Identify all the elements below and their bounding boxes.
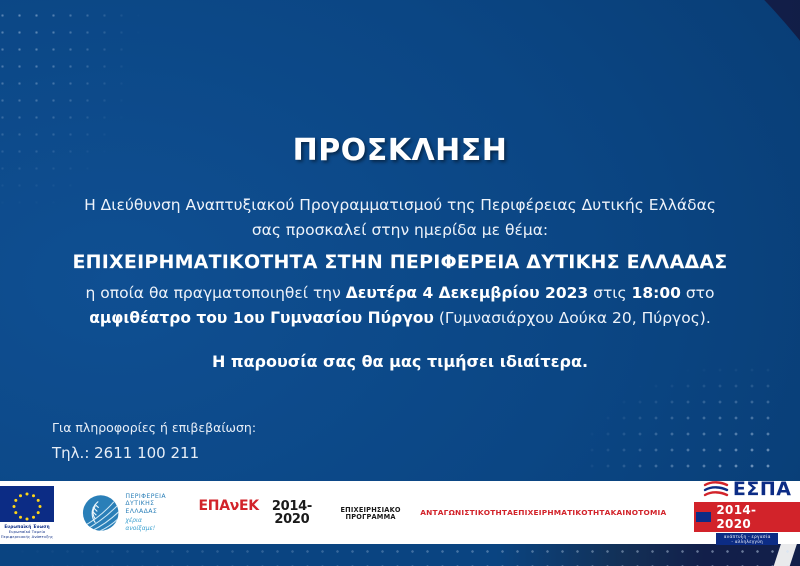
region-line2: ΔΥΤΙΚΗΣ <box>125 500 170 507</box>
epanek-title-row: ΕΠΑνΕΚ 2014-2020 <box>199 499 321 526</box>
espa-eu-flag-icon <box>696 512 711 522</box>
datetime-suffix: στο <box>681 284 715 302</box>
page-title: ΠΡΟΣΚΛΗΣΗ <box>0 133 800 168</box>
body-line-invite: σας προσκαλεί στην ημερίδα με θέμα: <box>40 218 760 243</box>
event-venue: αμφιθέατρο του 1ου Γυμνασίου Πύργου <box>89 309 434 327</box>
body-line-honor: Η παρουσία σας θα μας τιμήσει ιδιαίτερα. <box>40 349 760 375</box>
body-line-venue: αμφιθέατρο του 1ου Γυμνασίου Πύργου (Γυμ… <box>40 306 760 331</box>
contact-label: Για πληροφορίες ή επιβεβαίωση: <box>52 418 256 438</box>
event-address: (Γυμνασιάρχου Δούκα 20, Πύργος). <box>434 309 711 327</box>
body-line-organizer: Η Διεύθυνση Αναπτυξιακού Προγραμματισμού… <box>40 193 760 218</box>
body-line-datetime: η οποία θα πραγματοποιηθεί την Δευτέρα 4… <box>40 281 760 306</box>
event-subject: ΕΠΙΧΕΙΡΗΜΑΤΙΚΟΤΗΤΑ ΣΤΗΝ ΠΕΡΙΦΕΡΕΙΑ ΔΥΤΙΚ… <box>40 243 760 281</box>
eu-flag-icon <box>0 486 54 522</box>
eu-caption-line3: Περιφερειακής Ανάπτυξης <box>1 534 54 539</box>
invitation-body: Η Διεύθυνση Αναπτυξιακού Προγραμματισμού… <box>40 193 760 375</box>
epanek-line3: ΑΝΤΑΓΩΝΙΣΤΙΚΟΤΗΤΑ <box>420 509 513 516</box>
region-slogan: χέρια ανοίξαμε! <box>125 517 170 532</box>
epanek-line4: ΕΠΙΧΕΙΡΗΜΑΤΙΚΟΤΗΤΑ <box>513 509 611 516</box>
datetime-mid: στις <box>588 284 631 302</box>
contact-info: Για πληροφορίες ή επιβεβαίωση: Τηλ.: 261… <box>52 418 256 465</box>
epanek-acronym: ΕΠΑνΕΚ <box>199 499 259 513</box>
contact-phone: Τηλ.: 2611 100 211 <box>52 441 256 465</box>
espa-logo: ΕΣΠΑ 2014-2020 ανάπτυξη - εργασία - αλλη… <box>694 480 800 546</box>
epanek-years: 2014-2020 <box>263 500 321 526</box>
epanek-logo: ΕΠΑνΕΚ 2014-2020 ΕΠΙΧΕΙΡΗΣΙΑΚΟ ΠΡΟΓΡΑΜΜΑ… <box>199 499 667 526</box>
espa-top-row: ΕΣΠΑ <box>703 480 792 500</box>
epanek-line5: ΚΑΙΝΟΤΟΜΙΑ <box>611 509 667 516</box>
eu-logo: Ευρωπαϊκή Ένωση Ευρωπαϊκό Ταμείο Περιφερ… <box>0 486 54 539</box>
region-emblem-icon <box>82 493 119 533</box>
espa-years-text: 2014-2020 <box>716 503 756 531</box>
region-line3: ΕΛΛΑΔΑΣ <box>125 508 170 515</box>
footer-logo-band: Ευρωπαϊκή Ένωση Ευρωπαϊκό Ταμείο Περιφερ… <box>0 481 800 544</box>
footer-bottom-strip <box>0 544 800 566</box>
region-line1: ΠΕΡΙΦΕΡΕΙΑ <box>125 493 170 500</box>
epanek-line2: ΕΠΙΧΕΙΡΗΣΙΑΚΟ ΠΡΟΓΡΑΜΜΑ <box>321 507 420 520</box>
espa-years-banner: 2014-2020 <box>694 502 800 532</box>
espa-tagline: ανάπτυξη - εργασία - αλληλεγγύη <box>716 533 778 545</box>
espa-wordmark: ΕΣΠΑ <box>733 480 792 499</box>
region-of-western-greece-logo: ΠΕΡΙΦΕΡΕΙΑ ΔΥΤΙΚΗΣ ΕΛΛΑΔΑΣ χέρια ανοίξαμ… <box>82 493 171 533</box>
eu-logo-caption: Ευρωπαϊκή Ένωση Ευρωπαϊκό Ταμείο Περιφερ… <box>1 524 54 539</box>
invitation-poster: ΠΡΟΣΚΛΗΣΗ Η Διεύθυνση Αναπτυξιακού Προγρ… <box>0 0 800 566</box>
region-logo-text: ΠΕΡΙΦΕΡΕΙΑ ΔΥΤΙΚΗΣ ΕΛΛΑΔΑΣ χέρια ανοίξαμ… <box>125 493 170 532</box>
datetime-prefix: η οποία θα πραγματοποιηθεί την <box>86 284 346 302</box>
event-time: 18:00 <box>632 284 681 302</box>
footer-dot-pattern <box>0 544 800 566</box>
body-spacer <box>40 331 760 349</box>
espa-swoosh-icon <box>703 480 729 500</box>
event-date: Δευτέρα 4 Δεκεμβρίου 2023 <box>346 284 588 302</box>
